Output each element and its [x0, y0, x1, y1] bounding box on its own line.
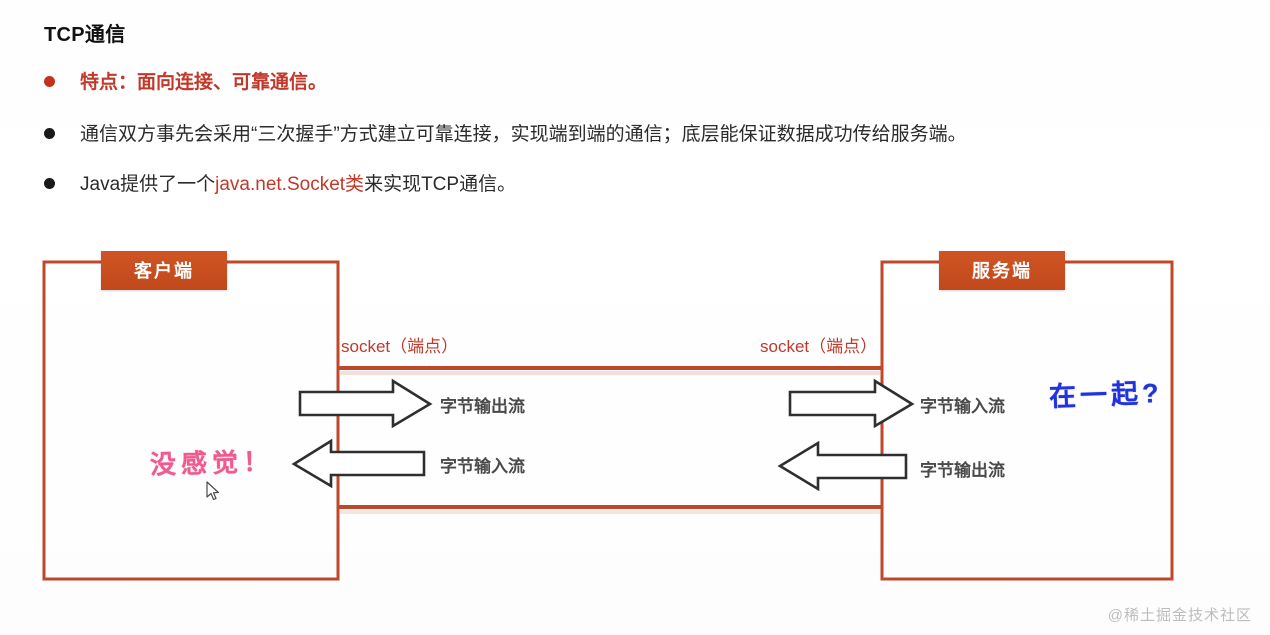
- socket-label-client: socket（端点）: [341, 332, 458, 357]
- arrow-server-input-icon: [790, 381, 912, 426]
- mouse-cursor-icon: [206, 481, 220, 501]
- bullet-text-handshake: 通信双方事先会采用“三次握手”方式建立可靠连接，实现端到端的通信；底层能保证数据…: [80, 122, 967, 149]
- bullet-dot-icon: [44, 128, 55, 139]
- annotation-blue-note: 在一起?: [1048, 371, 1163, 414]
- bullet-item-handshake: 通信双方事先会采用“三次握手”方式建立可靠连接，实现端到端的通信；底层能保证数据…: [44, 122, 967, 149]
- bullet-text-suffix: 来实现TCP通信。: [364, 174, 516, 195]
- bullet-item-java-socket: Java提供了一个java.net.Socket类来实现TCP通信。: [44, 172, 516, 199]
- server-box-outline: [882, 262, 1172, 579]
- arrow-client-output-icon: [300, 381, 430, 426]
- bullet-text-java-socket: Java提供了一个java.net.Socket类来实现TCP通信。: [80, 172, 516, 199]
- stream-label-server-output: 字节输出流: [920, 456, 1005, 481]
- slide-canvas: TCP通信 特点：面向连接、可靠通信。 通信双方事先会采用“三次握手”方式建立可…: [0, 0, 1270, 635]
- arrow-server-output-icon: [780, 443, 906, 489]
- arrow-client-input-icon: [294, 441, 424, 486]
- socket-label-server: socket（端点）: [760, 332, 877, 357]
- client-box-outline: [44, 262, 338, 579]
- annotation-pink-note: 没感觉！: [150, 441, 275, 481]
- stream-label-client-input: 字节输入流: [440, 452, 525, 477]
- server-node-header: 服务端: [939, 251, 1065, 290]
- bullet-text-prefix: Java提供了一个: [80, 174, 215, 195]
- stream-label-client-output: 字节输出流: [440, 392, 525, 417]
- watermark: @稀土掘金技术社区: [1108, 604, 1252, 625]
- bullet-dot-icon: [44, 178, 55, 189]
- page-title: TCP通信: [44, 18, 126, 47]
- bullet-text-highlight: java.net.Socket类: [215, 174, 364, 195]
- client-node-header: 客户端: [101, 251, 227, 290]
- bullet-item-feature: 特点：面向连接、可靠通信。: [44, 70, 327, 97]
- stream-label-server-input: 字节输入流: [920, 392, 1005, 417]
- bullet-dot-icon: [44, 76, 55, 87]
- bullet-text-feature: 特点：面向连接、可靠通信。: [80, 70, 327, 97]
